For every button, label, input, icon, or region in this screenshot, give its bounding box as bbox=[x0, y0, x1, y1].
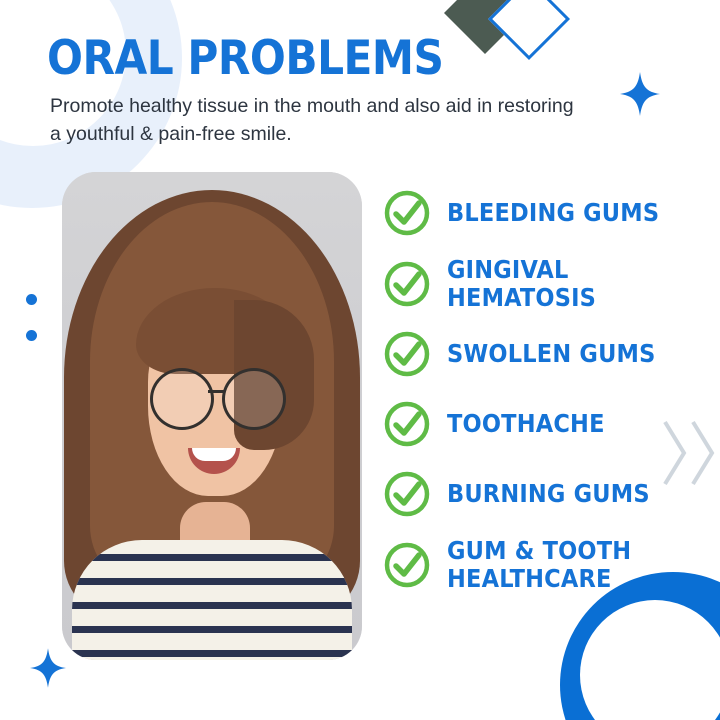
list-item: TOOTHACHE bbox=[383, 397, 703, 451]
check-circle-icon bbox=[383, 260, 431, 308]
list-item: SWOLLEN GUMS bbox=[383, 327, 703, 381]
checklist-label-line1: GINGIVAL bbox=[447, 256, 596, 284]
decorative-dot-lower bbox=[26, 330, 37, 341]
portrait-teeth bbox=[192, 448, 236, 461]
portrait-photo bbox=[62, 172, 362, 660]
decorative-dot-upper bbox=[26, 294, 37, 305]
list-item: BLEEDING GUMS bbox=[383, 186, 703, 240]
checklist-label-line1: TOOTHACHE bbox=[447, 409, 605, 438]
list-item: BURNING GUMS bbox=[383, 467, 703, 521]
page-title: ORAL PROBLEMS bbox=[47, 34, 647, 83]
checklist-label: GUM & TOOTH HEALTHCARE bbox=[447, 537, 631, 592]
portrait-glasses-right bbox=[222, 368, 286, 430]
checklist-label: GINGIVAL HEMATOSIS bbox=[447, 256, 596, 311]
checklist-label-line2: HEALTHCARE bbox=[447, 565, 631, 593]
check-circle-icon bbox=[383, 400, 431, 448]
check-circle-icon bbox=[383, 330, 431, 378]
header-block: ORAL PROBLEMS Promote healthy tissue in … bbox=[47, 34, 647, 149]
checklist-label-line1: SWOLLEN GUMS bbox=[447, 339, 656, 368]
portrait-glasses-bridge bbox=[208, 390, 224, 393]
sparkle-icon bbox=[30, 648, 66, 688]
check-circle-icon bbox=[383, 470, 431, 518]
portrait-sweater bbox=[72, 540, 352, 660]
poster-canvas: ORAL PROBLEMS Promote healthy tissue in … bbox=[0, 0, 720, 720]
checklist-label: TOOTHACHE bbox=[447, 410, 605, 438]
checklist-label: SWOLLEN GUMS bbox=[447, 340, 656, 368]
checklist-label-line1: BURNING GUMS bbox=[447, 479, 650, 508]
check-circle-icon bbox=[383, 541, 431, 589]
checklist-label: BLEEDING GUMS bbox=[447, 199, 659, 227]
portrait-photo-inner bbox=[62, 172, 362, 660]
checklist-label-line1: GUM & TOOTH bbox=[447, 537, 631, 565]
checklist-label-line2: HEMATOSIS bbox=[447, 284, 596, 312]
portrait-glasses-left bbox=[150, 368, 214, 430]
page-subtitle: Promote healthy tissue in the mouth and … bbox=[50, 93, 580, 148]
list-item: GINGIVAL HEMATOSIS bbox=[383, 256, 703, 311]
list-item: GUM & TOOTH HEALTHCARE bbox=[383, 537, 703, 592]
checklist-label-line1: BLEEDING GUMS bbox=[447, 198, 659, 227]
check-circle-icon bbox=[383, 189, 431, 237]
checklist-label: BURNING GUMS bbox=[447, 480, 650, 508]
checklist: BLEEDING GUMS GINGIVAL HEMATOSIS bbox=[383, 186, 703, 608]
